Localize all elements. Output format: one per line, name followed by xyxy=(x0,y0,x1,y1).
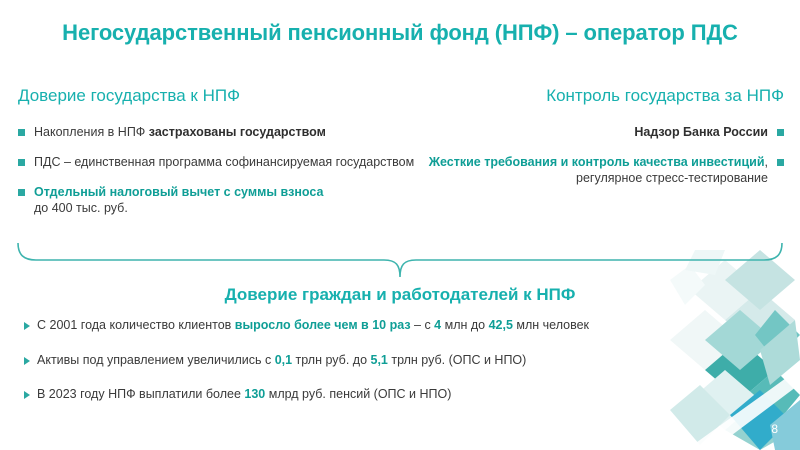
right-column-heading: Контроль государства за НПФ xyxy=(400,86,784,106)
list-item: Отдельный налоговый вычет с суммы взноса… xyxy=(18,184,418,216)
triangle-bullet-icon xyxy=(24,322,30,330)
list-item: Надзор Банка России xyxy=(400,124,784,140)
list-item: В 2023 году НПФ выплатили более 130 млрд… xyxy=(24,387,764,403)
brace-connector xyxy=(16,243,784,289)
list-item-text: Надзор Банка России xyxy=(634,124,768,140)
slide-canvas: Негосударственный пенсионный фонд (НПФ) … xyxy=(0,0,800,450)
list-item: С 2001 года количество клиентов выросло … xyxy=(24,318,764,334)
list-item: ПДС – единственная программа софинансиру… xyxy=(18,154,418,170)
list-item-text: Отдельный налоговый вычет с суммы взноса… xyxy=(34,184,418,216)
page-title: Негосударственный пенсионный фонд (НПФ) … xyxy=(0,20,800,46)
right-column: Контроль государства за НПФ Надзор Банка… xyxy=(400,86,784,200)
square-bullet-icon xyxy=(18,129,25,136)
list-item-text: С 2001 года количество клиентов выросло … xyxy=(37,318,764,334)
list-item: Накопления в НПФ застрахованы государств… xyxy=(18,124,418,140)
list-item-text: В 2023 году НПФ выплатили более 130 млрд… xyxy=(37,387,764,403)
list-item-text: ПДС – единственная программа софинансиру… xyxy=(34,154,418,170)
statistics-list: С 2001 года количество клиентов выросло … xyxy=(24,318,764,422)
page-number: 8 xyxy=(771,422,778,436)
list-item-text: Активы под управлением увеличились с 0,1… xyxy=(37,353,764,369)
triangle-bullet-icon xyxy=(24,391,30,399)
square-bullet-icon xyxy=(18,159,25,166)
square-bullet-icon xyxy=(777,129,784,136)
list-item-text: Жесткие требования и контроль качества и… xyxy=(400,154,768,186)
list-item: Жесткие требования и контроль качества и… xyxy=(400,154,784,186)
list-item: Активы под управлением увеличились с 0,1… xyxy=(24,353,764,369)
square-bullet-icon xyxy=(777,159,784,166)
left-column-heading: Доверие государства к НПФ xyxy=(18,86,418,106)
triangle-bullet-icon xyxy=(24,357,30,365)
center-section-heading: Доверие граждан и работодателей к НПФ xyxy=(0,285,800,305)
left-column: Доверие государства к НПФ Накопления в Н… xyxy=(18,86,418,230)
list-item-text: Накопления в НПФ застрахованы государств… xyxy=(34,124,418,140)
square-bullet-icon xyxy=(18,189,25,196)
